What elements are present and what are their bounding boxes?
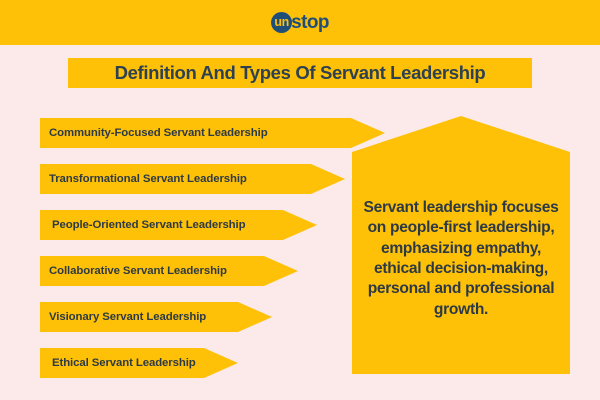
page-title-banner: Definition And Types Of Servant Leadersh…	[68, 58, 532, 88]
arrow-item-label: Transformational Servant Leadership	[40, 173, 247, 185]
arrow-item-label: Collaborative Servant Leadership	[40, 265, 227, 277]
arrow-item-visionary: Visionary Servant Leadership	[40, 302, 272, 332]
arrow-item-label: Community-Focused Servant Leadership	[40, 127, 268, 139]
logo-wordmark: stop	[291, 13, 329, 32]
definition-callout: Servant leadership focuses on people-fir…	[352, 116, 570, 374]
arrow-item-transformational: Transformational Servant Leadership	[40, 164, 345, 194]
arrow-item-community-focused: Community-Focused Servant Leadership	[40, 118, 385, 148]
arrow-item-collaborative: Collaborative Servant Leadership	[40, 256, 298, 286]
arrow-item-ethical: Ethical Servant Leadership	[40, 348, 238, 378]
definition-callout-text: Servant leadership focuses on people-fir…	[352, 164, 570, 326]
page-title: Definition And Types Of Servant Leadersh…	[115, 62, 486, 84]
unstop-logo: un stop	[271, 11, 329, 35]
arrow-item-label: People-Oriented Servant Leadership	[40, 219, 245, 231]
brand-band: un stop	[0, 0, 600, 45]
arrow-item-label: Ethical Servant Leadership	[40, 357, 196, 369]
arrow-item-people-oriented: People-Oriented Servant Leadership	[40, 210, 317, 240]
logo-mark-icon: un	[271, 12, 292, 33]
arrow-item-label: Visionary Servant Leadership	[40, 311, 206, 323]
